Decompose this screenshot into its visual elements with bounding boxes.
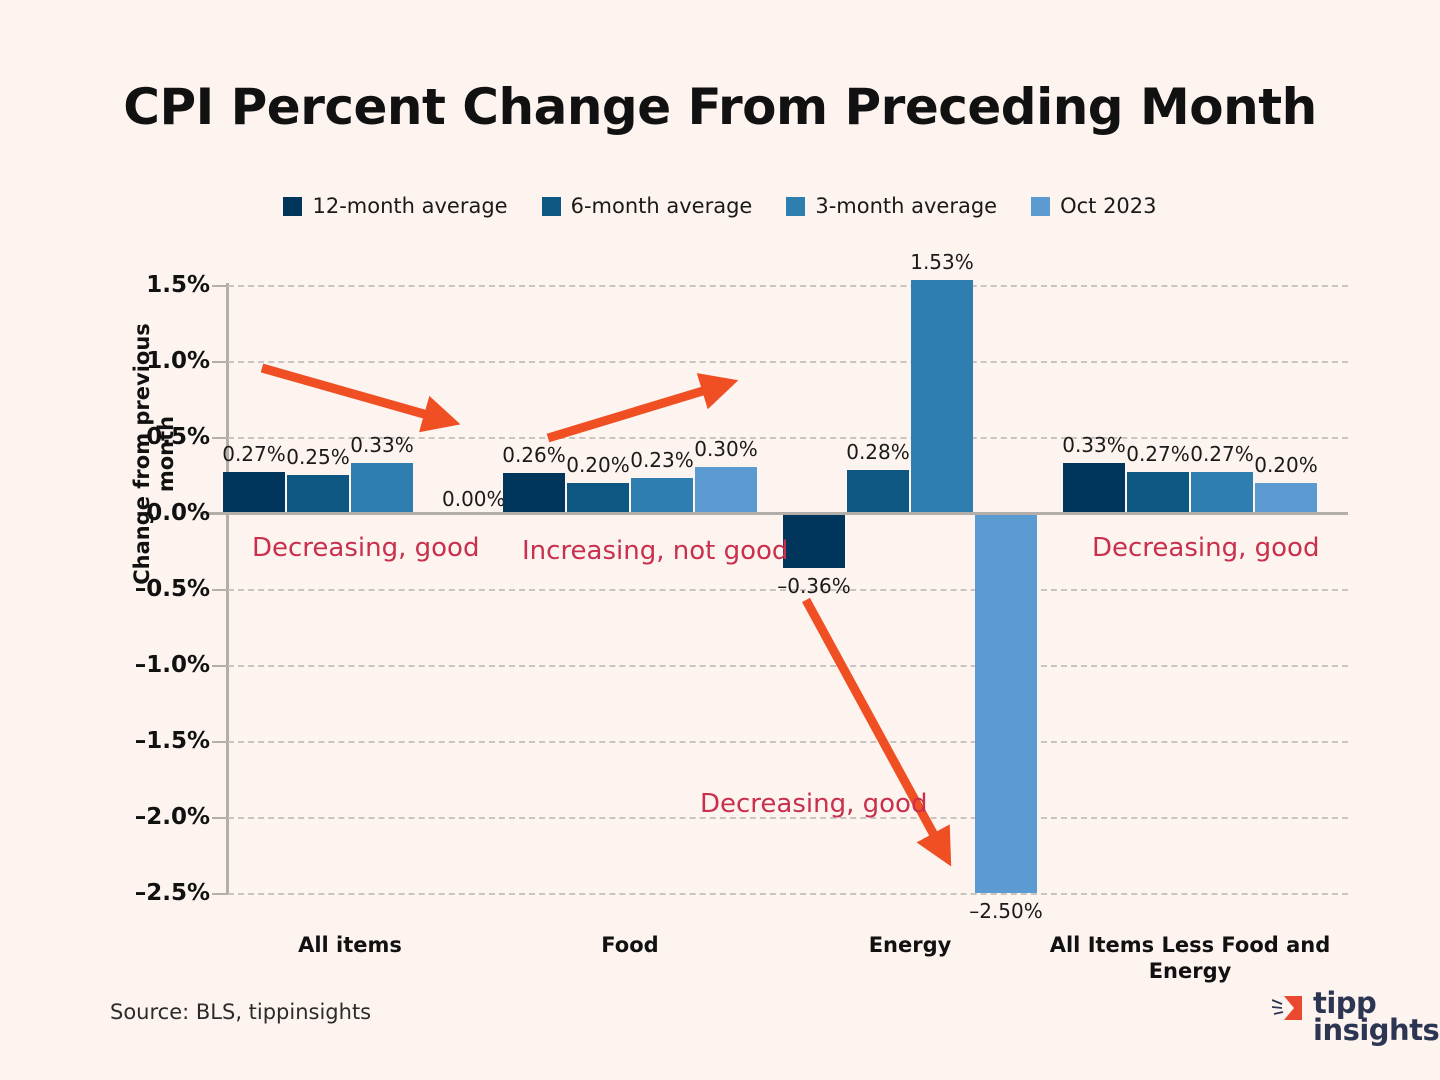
bar (287, 475, 349, 513)
bar-value-label: 0.30% (666, 437, 786, 461)
y-axis-tick-label: 1.0% (90, 348, 210, 374)
annotation-food: Increasing, not good (522, 536, 788, 566)
y-axis-tick-mark (212, 361, 226, 363)
y-axis-tick-mark (212, 285, 226, 287)
y-axis-title: Change from previous month (130, 294, 178, 614)
chart-title: CPI Percent Change From Preceding Month (0, 78, 1440, 136)
legend-label-3-month-average: 3-month average (815, 194, 997, 218)
bar (695, 467, 757, 513)
x-axis-category-label: Energy (760, 932, 1060, 958)
legend-label-6-month-average: 6-month average (571, 194, 753, 218)
y-axis-tick-label: –2.0% (90, 804, 210, 830)
bar (351, 463, 413, 513)
y-axis-tick-mark (212, 741, 226, 743)
y-axis-tick-label: –1.0% (90, 652, 210, 678)
bar (1255, 483, 1317, 513)
legend-item-6-month-average: 6-month average (542, 194, 753, 218)
legend-label-12-month-average: 12-month average (312, 194, 507, 218)
source-note: Source: BLS, tippinsights (110, 1000, 371, 1024)
bar (567, 483, 629, 513)
y-axis-tick-mark (212, 437, 226, 439)
legend-item-oct-2023: Oct 2023 (1031, 194, 1156, 218)
y-axis-tick-mark (212, 893, 226, 895)
bar-value-label: –0.36% (754, 574, 874, 598)
y-axis-tick-label: –1.5% (90, 728, 210, 754)
y-axis-tick-label: 0.5% (90, 424, 210, 450)
y-axis-tick-label: –0.5% (90, 576, 210, 602)
x-axis-category-label: All items (200, 932, 500, 958)
legend-swatch-oct-2023 (1031, 197, 1050, 216)
bar-value-label: –2.50% (946, 899, 1066, 923)
tipp-logo-mark (1272, 995, 1306, 1021)
legend-item-12-month-average: 12-month average (283, 194, 507, 218)
logo-line-2: insights (1313, 1017, 1439, 1044)
annotation-energy: Decreasing, good (700, 789, 927, 819)
gridline (228, 361, 1348, 363)
bar (975, 513, 1037, 893)
chart-legend: 12-month average 6-month average 3-month… (0, 194, 1440, 218)
gridline (228, 285, 1348, 287)
legend-label-oct-2023: Oct 2023 (1060, 194, 1156, 218)
bar-value-label: 1.53% (882, 250, 1002, 274)
zero-baseline (200, 512, 1348, 515)
annotation-all-items: Decreasing, good (252, 533, 479, 563)
y-axis-tick-mark (212, 513, 226, 515)
bar (631, 478, 693, 513)
y-axis-tick-label: 0.0% (90, 500, 210, 526)
annotation-core: Decreasing, good (1092, 533, 1319, 563)
bar (847, 470, 909, 513)
y-axis-tick-mark (212, 665, 226, 667)
gridline (228, 741, 1348, 743)
bar-value-label: 0.20% (1226, 453, 1346, 477)
legend-swatch-12-month-average (283, 197, 302, 216)
logo-wordmark: tipp insights (1313, 990, 1439, 1043)
bar (1063, 463, 1125, 513)
bar (1127, 472, 1189, 513)
legend-swatch-6-month-average (542, 197, 561, 216)
bar (783, 513, 845, 568)
legend-swatch-3-month-average (786, 197, 805, 216)
y-axis-tick-label: 1.5% (90, 272, 210, 298)
bar (911, 280, 973, 513)
tipp-insights-logo: tipp insights (1272, 990, 1439, 1043)
bar-value-label: 0.33% (322, 433, 442, 457)
y-axis-tick-label: –2.5% (90, 880, 210, 906)
x-axis-category-label: All Items Less Food and Energy (1040, 932, 1340, 985)
bar (223, 472, 285, 513)
gridline (228, 665, 1348, 667)
y-axis-tick-mark (212, 589, 226, 591)
bar (503, 473, 565, 513)
bar (1191, 472, 1253, 513)
cpi-bar-chart: CPI Percent Change From Preceding Month … (0, 0, 1440, 1080)
x-axis-category-label: Food (480, 932, 780, 958)
y-axis-tick-mark (212, 817, 226, 819)
gridline (228, 893, 1348, 895)
legend-item-3-month-average: 3-month average (786, 194, 997, 218)
